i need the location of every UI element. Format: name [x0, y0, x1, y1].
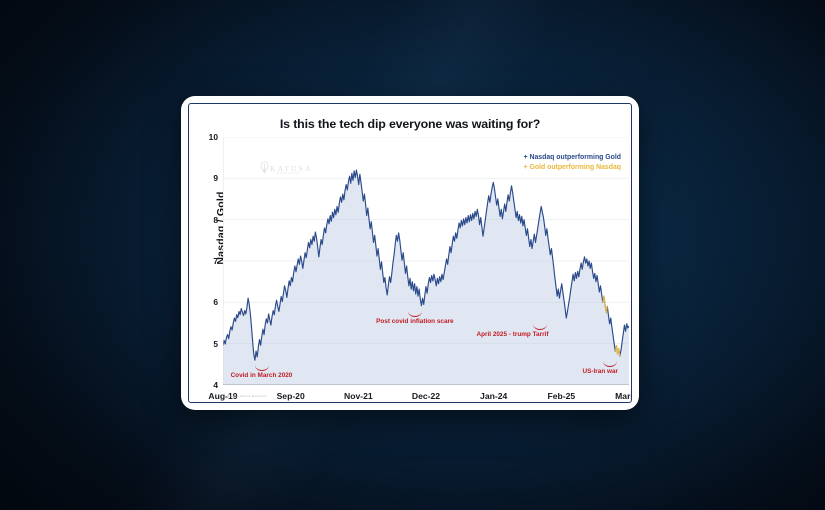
x-tick-mar-26: Mar-26: [615, 391, 632, 401]
y-tick-5: 5: [213, 339, 218, 349]
y-tick-6: 6: [213, 297, 218, 307]
x-tick-nov-21: Nov-21: [344, 391, 373, 401]
chart-card: Is this the tech dip everyone was waitin…: [181, 96, 639, 410]
x-tick-feb-25: Feb-25: [547, 391, 575, 401]
katusa-mark-icon: [259, 161, 270, 175]
chart-card-inner: Is this the tech dip everyone was waitin…: [188, 103, 632, 403]
x-tick-jan-24: Jan-24: [480, 391, 507, 401]
x-tick-dec-22: Dec-22: [412, 391, 440, 401]
plus-marker-icon: +: [523, 164, 527, 171]
y-tick-7: 7: [213, 256, 218, 266]
plus-marker-icon: +: [523, 154, 527, 161]
annotation-label: Covid in March 2020: [231, 372, 293, 379]
annotation-label: April 2025 - trump Tarrif: [476, 331, 548, 338]
chart-legend: +Nasdaq outperforming Gold +Gold outperf…: [523, 153, 621, 173]
katusa-tagline: RESEARCH: [277, 171, 300, 175]
katusa-watermark-logo: KATUSA RESEARCH: [259, 161, 313, 175]
annotation-label: US-Iran war: [583, 368, 619, 375]
annotation-label: Post covid inflation scare: [376, 318, 453, 325]
legend-label-gold: Gold outperforming Nasdaq: [530, 164, 622, 171]
plot-area: 10987654 Aug-19Sep-20Nov-21Dec-22Jan-24F…: [223, 137, 629, 385]
y-tick-9: 9: [213, 173, 218, 183]
legend-item-gold: +Gold outperforming Nasdaq: [523, 163, 621, 173]
y-tick-10: 10: [209, 132, 218, 142]
x-tick-sep-20: Sep-20: [277, 391, 305, 401]
y-tick-8: 8: [213, 215, 218, 225]
source-note: Source: Katusa Research: [227, 394, 267, 398]
legend-label-nasdaq: Nasdaq outperforming Gold: [530, 154, 622, 161]
y-tick-4: 4: [213, 380, 218, 390]
page-title: Is this the tech dip everyone was waitin…: [189, 117, 631, 131]
legend-item-nasdaq: +Nasdaq outperforming Gold: [523, 153, 621, 163]
